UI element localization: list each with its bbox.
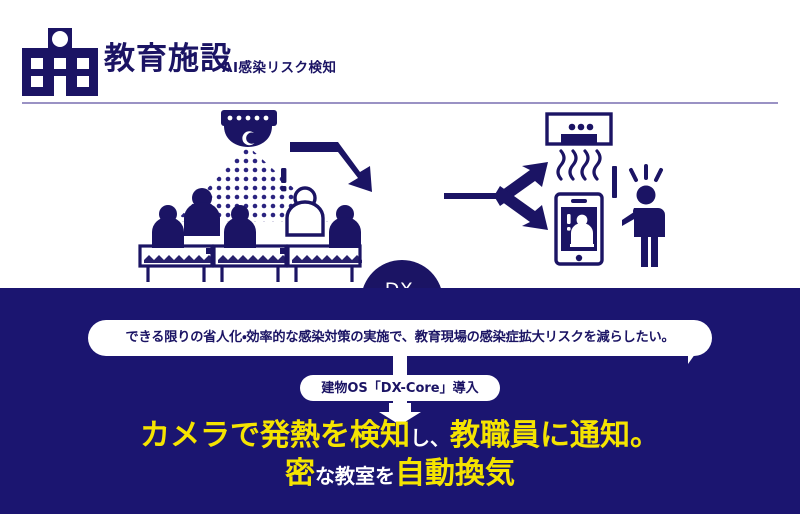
headline-l2-p3: 自動換気 [395,456,515,491]
headline: カメラで発熱を検知し、教職員に通知。 密な教室を自動換気 [0,420,800,490]
airflow-wavy-lines [558,151,600,179]
bent-arrow-right-down [290,142,372,192]
headline-l1-p2: し、 [410,426,450,450]
headline-line-1: カメラで発熱を検知し、教職員に通知。 [0,420,800,452]
school-building-icon [22,28,98,96]
concept-diagram: DX- Core [0,104,800,288]
branching-arrow-right [444,162,548,230]
smartphone-alert-icon [556,194,602,264]
teacher-figure-icon [612,166,665,267]
dome-camera-icon [221,110,277,147]
page-subtitle: AI感染リスク検知 [222,62,336,76]
headline-l1-p3: 教職員に通知。 [450,418,660,453]
dx-core-badge-label: 建物OS「DX-Core」導入 [321,382,478,395]
poster-root: 教育施設 AI感染リスク検知 [0,0,800,514]
headline-l2-p1: 密 [285,456,315,491]
air-conditioner-icon [547,114,611,144]
alert-exclamation [281,168,286,191]
headline-l2-p2: な教室を [315,464,395,488]
page-title: 教育施設 [104,44,232,75]
speech-bubble-text: できる限りの省人化・効率的な感染対策の実施で、教育現場の感染症拡大リスクを減らし… [126,331,675,344]
desks [140,246,360,282]
headline-l1-p1: カメラで発熱を検知 [140,418,410,453]
headline-line-2: 密な教室を自動換気 [0,458,800,490]
speech-bubble: できる限りの省人化・効率的な感染対策の実施で、教育現場の感染症拡大リスクを減らし… [88,320,712,356]
header: 教育施設 AI感染リスク検知 [0,0,800,104]
speech-bubble-tail [688,350,698,364]
dx-core-badge: 建物OS「DX-Core」導入 [300,375,500,401]
connector-top [393,356,407,376]
